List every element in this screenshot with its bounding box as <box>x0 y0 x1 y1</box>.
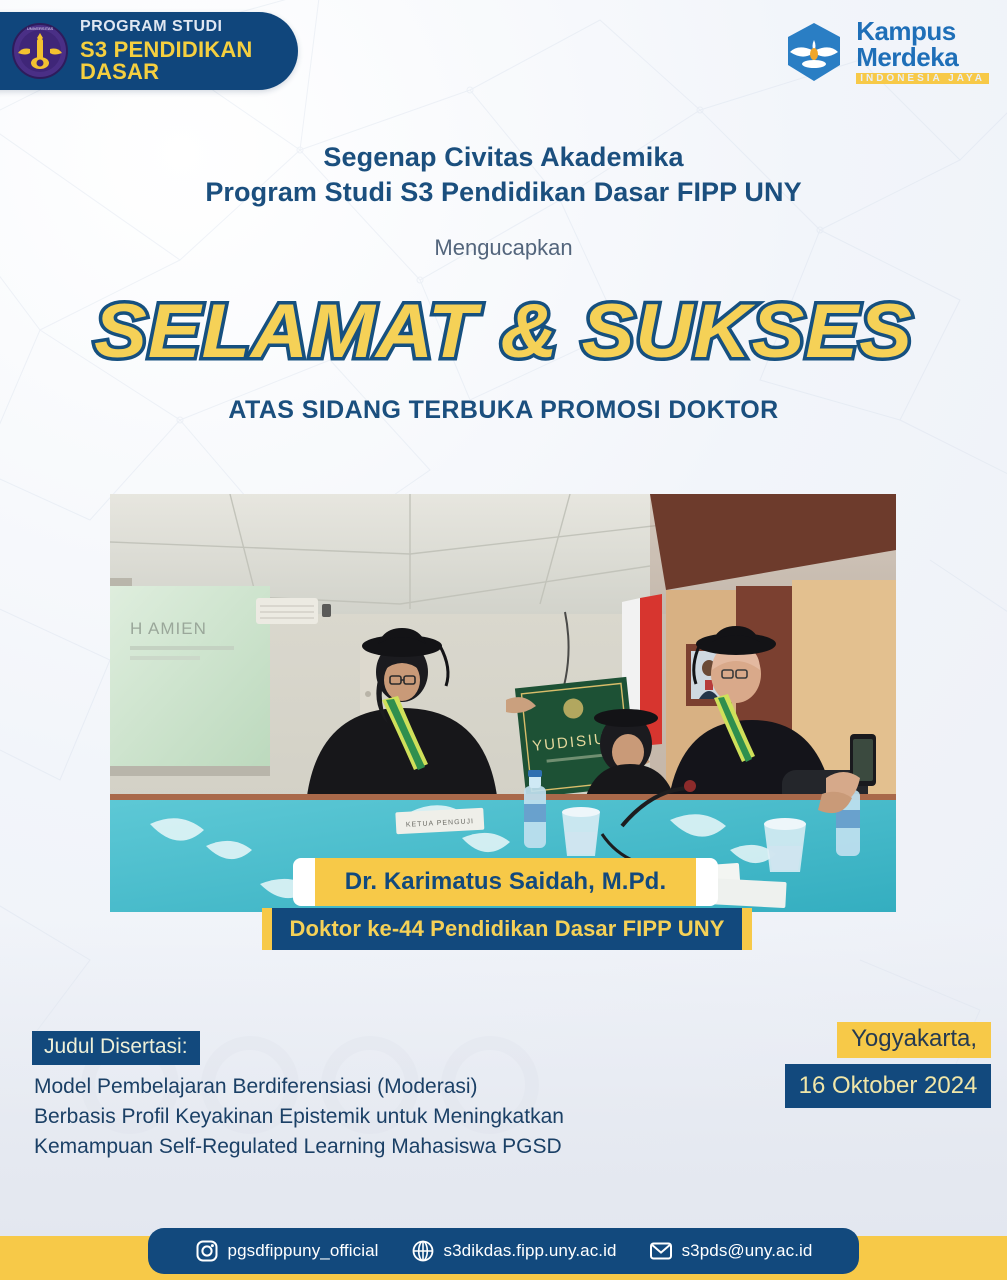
date-bar: 16 Oktober 2024 <box>785 1064 991 1108</box>
dissertation-title-line: Berbasis Profil Keyakinan Epistemik untu… <box>34 1102 674 1132</box>
contact-instagram-text: pgsdfippuny_official <box>228 1241 379 1261</box>
tut-wuri-handayani-icon <box>782 20 846 84</box>
honoree-nameplate: Dr. Karimatus Saidah, M.Pd. <box>293 858 718 906</box>
headline-subtitle: ATAS SIDANG TERBUKA PROMOSI DOKTOR <box>0 396 1007 425</box>
uny-seal-icon: UNIVERSITAS <box>12 23 68 79</box>
contact-instagram[interactable]: pgsdfippuny_official <box>195 1239 379 1263</box>
greeting-verb: Mengucapkan <box>0 235 1007 261</box>
greeting-line1: Segenap Civitas Akademika <box>0 140 1007 175</box>
dissertation-title-line: Model Pembelajaran Berdiferensiasi (Mode… <box>34 1072 674 1102</box>
kampus-merdeka-tagline: INDONESIA JAYA <box>856 73 989 84</box>
ceremony-photo: H AMIEN <box>110 494 896 912</box>
globe-icon <box>411 1239 435 1263</box>
honoree-name: Dr. Karimatus Saidah, M.Pd. <box>345 868 666 896</box>
honoree-subtitle: Doktor ke-44 Pendidikan Dasar FIPP UNY <box>290 916 725 942</box>
contact-email-text: s3pds@uny.ac.id <box>682 1241 813 1261</box>
date-value: 16 Oktober 2024 <box>799 1072 978 1100</box>
greeting-block: Segenap Civitas Akademika Program Studi … <box>0 140 1007 261</box>
dissertation-title-line: Kemampuan Self-Regulated Learning Mahasi… <box>34 1132 674 1162</box>
honoree-subtitle-bar: Doktor ke-44 Pendidikan Dasar FIPP UNY <box>272 908 742 950</box>
kampus-merdeka-line2: Merdeka <box>856 46 989 70</box>
contact-website-text: s3dikdas.fipp.uny.ac.id <box>444 1241 617 1261</box>
honoree-name-inner: Dr. Karimatus Saidah, M.Pd. <box>315 858 696 906</box>
headline-main: SELAMAT & SUKSES <box>0 288 1007 375</box>
dissertation-title: Model Pembelajaran Berdiferensiasi (Mode… <box>34 1072 674 1161</box>
kampus-merdeka-line1: Kampus <box>856 20 989 44</box>
badge-line2: S3 PENDIDIKAN DASAR <box>80 39 298 83</box>
instagram-icon <box>195 1239 219 1263</box>
badge-text: PROGRAM STUDI S3 PENDIDIKAN DASAR <box>80 19 298 83</box>
poster: UNIVERSITAS PROGRAM STUDI S3 PENDIDIKAN … <box>0 0 1007 1280</box>
greeting-line2: Program Studi S3 Pendidikan Dasar FIPP U… <box>0 175 1007 210</box>
kampus-merdeka-logo-group: Kampus Merdeka INDONESIA JAYA <box>782 14 989 90</box>
program-badge: UNIVERSITAS PROGRAM STUDI S3 PENDIDIKAN … <box>0 12 298 90</box>
date-city: Yogyakarta, <box>837 1022 991 1058</box>
footer-contact-bar: pgsdfippuny_official s3dikdas.fipp.uny.a… <box>148 1228 859 1274</box>
svg-text:H AMIEN: H AMIEN <box>130 619 207 638</box>
dissertation-label: Judul Disertasi: <box>32 1031 200 1065</box>
contact-website[interactable]: s3dikdas.fipp.uny.ac.id <box>411 1239 617 1263</box>
kampus-merdeka-text: Kampus Merdeka INDONESIA JAYA <box>856 20 989 84</box>
envelope-icon <box>649 1239 673 1263</box>
svg-text:UNIVERSITAS: UNIVERSITAS <box>27 26 54 31</box>
badge-line1: PROGRAM STUDI <box>80 19 298 35</box>
contact-email[interactable]: s3pds@uny.ac.id <box>649 1239 813 1263</box>
